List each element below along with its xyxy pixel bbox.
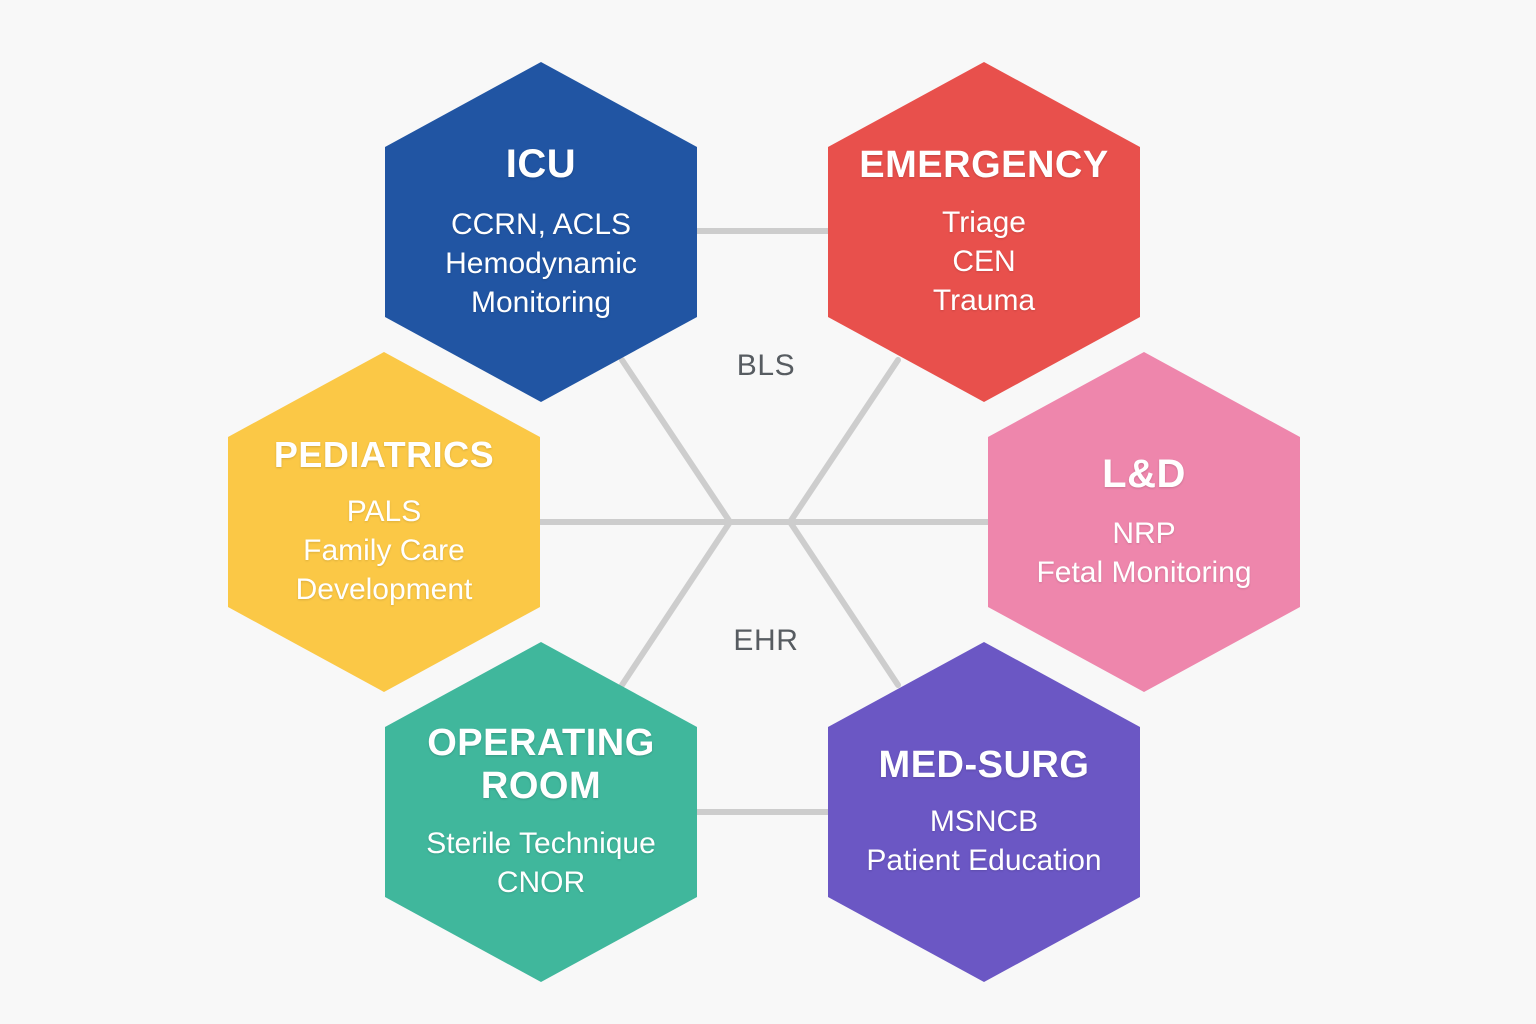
node-subtitle-pediatrics: PALS Family Care Development	[296, 492, 473, 609]
node-subtitle-emergency: Triage CEN Trauma	[933, 203, 1035, 320]
node-subtitle-line: Monitoring	[445, 283, 637, 322]
node-subtitle-icu: CCRN, ACLS Hemodynamic Monitoring	[445, 205, 637, 322]
center-label-bls: BLS	[737, 349, 796, 383]
connector-hub-medsurg	[790, 522, 898, 685]
node-subtitle-line: Hemodynamic	[445, 244, 637, 283]
node-title-medsurg: MED-SURG	[879, 744, 1090, 787]
node-subtitle-line: PALS	[296, 492, 473, 531]
connector-emergency-hub	[790, 360, 898, 522]
node-title-icu: ICU	[506, 142, 576, 187]
node-title-emergency: EMERGENCY	[859, 144, 1108, 187]
node-subtitle-medsurg: MSNCB Patient Education	[866, 802, 1101, 880]
node-subtitle-line: Patient Education	[866, 841, 1101, 880]
center-label-ehr: EHR	[733, 624, 798, 658]
node-title-line: OPERATING	[427, 722, 655, 765]
node-subtitle-line: CNOR	[426, 863, 656, 902]
node-subtitle-line: Fetal Monitoring	[1036, 553, 1251, 592]
connector-hub-or	[622, 522, 730, 685]
node-subtitle-operating-room: Sterile Technique CNOR	[426, 824, 656, 902]
node-subtitle-line: Sterile Technique	[426, 824, 656, 863]
node-title-line: ROOM	[427, 765, 655, 808]
node-subtitle-line: Family Care	[296, 531, 473, 570]
node-subtitle-line: Development	[296, 570, 473, 609]
node-subtitle-line: MSNCB	[866, 802, 1101, 841]
node-subtitle-line: CEN	[933, 242, 1035, 281]
node-subtitle-line: CCRN, ACLS	[445, 205, 637, 244]
diagram-canvas: BLS EHR ICU CCRN, ACLS Hemodynamic Monit…	[0, 0, 1536, 1024]
connector-icu-hub	[622, 360, 730, 522]
node-subtitle-line: Triage	[933, 203, 1035, 242]
node-subtitle-line: NRP	[1036, 514, 1251, 553]
node-title-operating-room: OPERATING ROOM	[427, 722, 655, 807]
node-subtitle-line: Trauma	[933, 281, 1035, 320]
node-subtitle-ld: NRP Fetal Monitoring	[1036, 514, 1251, 592]
node-title-ld: L&D	[1102, 452, 1186, 497]
node-title-pediatrics: PEDIATRICS	[274, 435, 494, 475]
